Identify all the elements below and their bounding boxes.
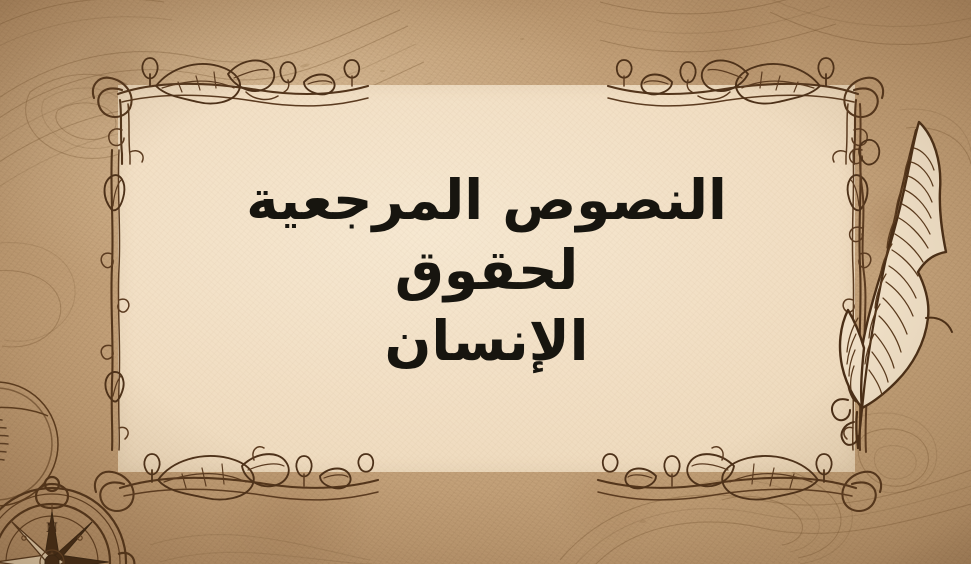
paper-speck bbox=[640, 520, 646, 523]
page-title: النصوص المرجعية لحقوق الإنسان bbox=[177, 165, 797, 376]
title-block: النصوص المرجعية لحقوق الإنسان bbox=[118, 85, 855, 472]
slide-canvas: النصوص المرجعية لحقوق الإنسان bbox=[0, 0, 971, 564]
page-title-line-1: النصوص المرجعية لحقوق bbox=[177, 165, 797, 306]
feather-quill-icon bbox=[806, 104, 971, 452]
paper-speck bbox=[520, 38, 524, 40]
compass-rose-decoration: N bbox=[0, 466, 146, 564]
paper-speck bbox=[380, 70, 385, 72]
compass-north-label: N bbox=[46, 521, 58, 536]
page-title-line-2: الإنسان bbox=[177, 306, 797, 376]
